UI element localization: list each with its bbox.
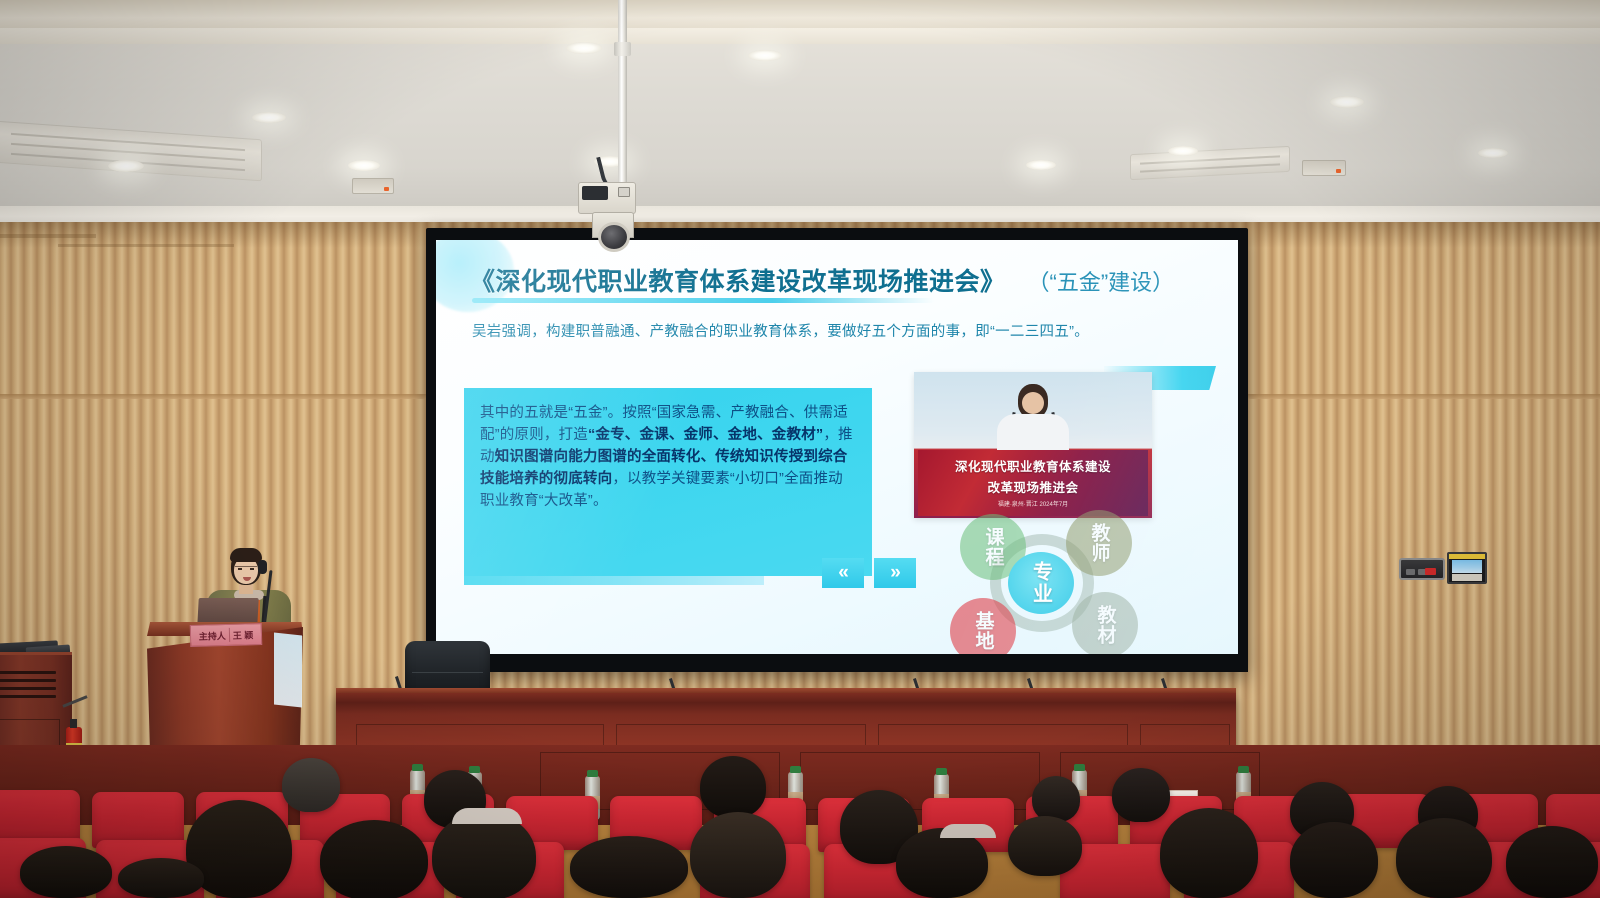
cabinet-vent-1 — [0, 671, 56, 674]
speaker-eye-left — [238, 568, 242, 570]
sensor-led-icon-right — [1336, 169, 1341, 173]
slide-prev-button[interactable]: « — [822, 558, 864, 588]
speaker-eye-right — [250, 568, 254, 570]
name-card-role: 主持人 — [199, 629, 226, 643]
photo-banner-line-1: 深化现代职业教育体系建设 — [955, 456, 1111, 475]
downlight-7 — [1330, 96, 1364, 108]
bottle-cap-icon-4 — [790, 766, 801, 773]
wall-seam-left-2 — [58, 244, 234, 247]
podium-microphone-head-icon — [258, 560, 267, 574]
slide-next-button[interactable]: » — [874, 558, 916, 588]
cabinet-vent-3 — [0, 687, 56, 690]
podium-side-paper — [274, 633, 302, 708]
wall-seam-left — [0, 234, 96, 238]
slide-title-underline — [472, 298, 934, 303]
audience-hairband — [940, 824, 996, 838]
control-button-1[interactable] — [1406, 569, 1415, 575]
slide-lead-paragraph: 吴岩强调，构建职普融通、产教融合的职业教育体系，要做好五个方面的事，即“一二三四… — [472, 320, 1220, 341]
cabinet-vent-2 — [0, 679, 56, 682]
downlight-8 — [1168, 146, 1198, 156]
slide-embedded-photo: 深化现代职业教育体系建设 改革现场推进会 福建·泉州·晋江 2024年7月 — [914, 372, 1152, 518]
body-line-1: 其中的五就是“五金”。按照“国家急需、产教融合、 — [480, 405, 804, 421]
diagram-lobe-label-base: 基地 — [970, 611, 997, 651]
auditorium-scene: 《深化现代职业教育体系建设改革现场推进会》 （“五金”建设） 吴岩强调，构建职普… — [0, 0, 1600, 898]
slide-title-row: 《深化现代职业教育体系建设改革现场推进会》 （“五金”建设） — [470, 262, 1218, 298]
downlight-2 — [252, 112, 286, 123]
monitor-screen — [1452, 560, 1482, 573]
projection-screen-surface: 《深化现代职业教育体系建设改革现场推进会》 （“五金”建设） 吴岩强调，构建职普… — [436, 240, 1238, 654]
podium-laptop[interactable] — [197, 598, 258, 626]
slide-body-paragraph: 其中的五就是“五金”。按照“国家急需、产教融合、供需适配”的原则，打造“金专、金… — [480, 402, 856, 512]
camera-mount-collar — [614, 42, 631, 56]
diagram-lobe-textbook: 教材 — [1072, 592, 1138, 654]
body-line-4a: ，以教学关键 — [612, 471, 700, 487]
control-power-button[interactable] — [1425, 568, 1436, 575]
podium-name-card: 主持人 王 颖 — [190, 623, 263, 647]
audience-head-foreground — [690, 812, 786, 898]
audience-head — [1032, 776, 1080, 822]
photo-banner-subtitle: 福建·泉州·晋江 2024年7月 — [998, 501, 1068, 509]
body-line-3b: 金教材” — [772, 427, 824, 443]
audience-head-foreground — [20, 846, 112, 898]
bottle-cap-icon — [412, 764, 423, 771]
wall-display[interactable] — [1447, 552, 1487, 584]
audience-head-foreground — [1160, 808, 1258, 898]
downlight-1 — [108, 160, 144, 172]
camera-mount-pole — [618, 0, 627, 182]
audience-head-foreground — [896, 828, 988, 898]
ceiling — [0, 0, 1600, 232]
bottle-cap-icon-5 — [936, 768, 947, 775]
extinguisher-nozzle-icon — [70, 719, 77, 728]
photo-banner-line-2: 改革现场推进会 — [987, 477, 1078, 496]
ceiling-sensor — [352, 178, 394, 194]
camera-network-port-icon — [618, 187, 630, 197]
audience-head-foreground — [1008, 816, 1082, 876]
audience-head-foreground — [1290, 822, 1378, 898]
slide-textbox-accent-bar — [464, 576, 764, 585]
diagram-center-major: 专业 — [1008, 552, 1074, 614]
camera-lens-icon — [598, 222, 630, 252]
slide-body-textbox: 其中的五就是“五金”。按照“国家急需、产教融合、供需适配”的原则，打造“金专、金… — [464, 388, 872, 576]
audience-head — [700, 756, 766, 818]
audience-head-foreground — [570, 836, 688, 898]
photo-speaker-body — [997, 414, 1069, 452]
ac-vent-right — [1130, 146, 1290, 180]
slide-nav-buttons: « » — [822, 558, 916, 588]
name-card-divider — [229, 628, 230, 642]
bottle-cap-icon-6 — [1074, 764, 1085, 771]
five-gold-cycle-diagram: 课程 教师 教材 基地 专业 — [938, 510, 1144, 654]
downlight-3 — [348, 160, 380, 171]
ceiling-sensor-right — [1302, 160, 1346, 176]
body-line-3c: 知识图谱向能力图谱的全面转化、传 — [495, 449, 730, 465]
slide-title-suffix: （“五金”建设） — [1028, 265, 1175, 297]
av-control-panel[interactable] — [1399, 558, 1445, 580]
cabinet-vent-4 — [0, 695, 56, 698]
camera-connector-panel — [582, 186, 608, 200]
sensor-led-icon — [384, 187, 389, 191]
projection-screen-frame: 《深化现代职业教育体系建设改革现场推进会》 （“五金”建设） 吴岩强调，构建职普… — [426, 228, 1248, 672]
diagram-lobe-label-course: 课程 — [980, 527, 1007, 567]
ac-vent-left — [0, 121, 262, 182]
downlight-5 — [748, 50, 782, 61]
audience-head — [282, 758, 340, 812]
audience-head-foreground — [1396, 818, 1492, 898]
audience-head-foreground — [432, 812, 536, 898]
slide-title: 《深化现代职业教育体系建设改革现场推进会》 — [470, 262, 1006, 298]
audience-head — [1112, 768, 1170, 822]
downlight-9 — [1478, 148, 1508, 158]
bottle-cap-icon-2 — [469, 766, 480, 773]
audience-head-foreground — [1506, 826, 1598, 898]
ceiling-beam — [0, 0, 1600, 30]
diagram-lobe-label-teacher: 教师 — [1086, 523, 1113, 563]
name-card-name: 王 颖 — [233, 628, 254, 642]
presentation-slide: 《深化现代职业教育体系建设改革现场推进会》 （“五金”建设） 吴岩强调，构建职普… — [436, 240, 1238, 654]
photo-speaker-face — [1022, 392, 1044, 414]
monitor-base — [1452, 574, 1482, 581]
bottle-cap-icon-7 — [1238, 766, 1249, 773]
body-line-2b: “金专、金课、金师、金地、 — [588, 427, 772, 443]
audience-head-foreground — [118, 858, 204, 898]
speaker-hair-front — [230, 548, 262, 562]
audience-hair-band — [452, 808, 522, 824]
diagram-lobe-label-textbook: 教材 — [1092, 605, 1119, 645]
bottle-cap-icon-3 — [587, 770, 598, 777]
photo-conference-banner: 深化现代职业教育体系建设 改革现场推进会 福建·泉州·晋江 2024年7月 — [918, 450, 1148, 516]
audience-head-foreground — [320, 820, 428, 898]
downlight-4 — [566, 42, 602, 54]
ceiling-beam-secondary — [0, 28, 1600, 44]
downlight-10 — [1026, 160, 1056, 170]
diagram-lobe-teacher: 教师 — [1066, 510, 1132, 576]
monitor-top-bar — [1449, 554, 1485, 559]
screen-bottom-frame — [426, 654, 1248, 672]
